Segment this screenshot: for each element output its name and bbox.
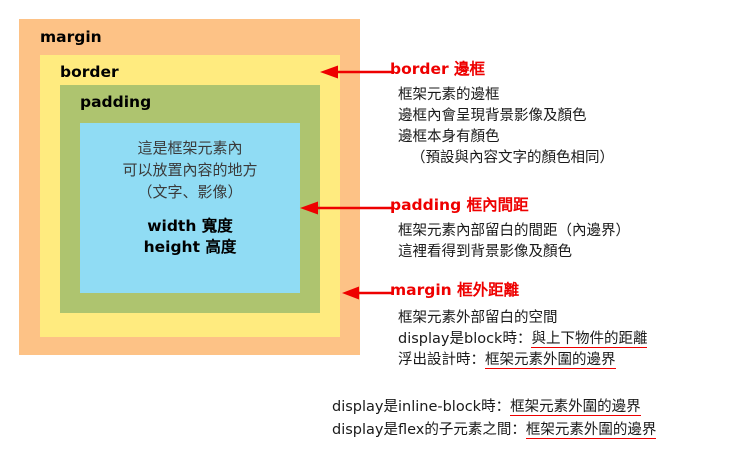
content-line-3: （文字、影像） <box>137 181 242 203</box>
border-layer-label: border <box>60 65 119 81</box>
border-annotation-line-3: 邊框本身有顏色 <box>398 127 614 148</box>
border-annotation-line-4: （預設與內容文字的顏色相同） <box>398 148 614 169</box>
margin-line2-prefix: display是block時： <box>398 331 531 347</box>
bottom-annotation-lines: display是inline-block時：框架元素外圍的邊界 display是… <box>332 396 750 442</box>
bottom-line2-emphasis: 框架元素外圍的邊界 <box>526 422 657 439</box>
padding-annotation-block: padding 框內間距 框架元素內部留白的間距（內邊界） 這裡看得到背景影像及… <box>390 196 630 263</box>
bottom-annotation-line-1: display是inline-block時：框架元素外圍的邊界 <box>332 396 750 419</box>
content-line-2: 可以放置內容的地方 <box>122 159 257 181</box>
margin-annotation-block: margin 框外距離 框架元素外部留白的空間 display是block時：與… <box>390 281 647 371</box>
margin-annotation-line-3: 浮出設計時：框架元素外圍的邊界 <box>398 350 647 371</box>
bottom-line2-prefix: display是flex的子元素之間： <box>332 422 526 438</box>
padding-callout-arrow-icon <box>300 201 392 215</box>
padding-annotation-lines: 框架元素內部留白的間距（內邊界） 這裡看得到背景影像及顏色 <box>398 221 630 263</box>
margin-line3-prefix: 浮出設計時： <box>398 352 485 368</box>
annotations-column: border 邊框 框架元素的邊框 邊框內會呈現背景影像及顏色 邊框本身有顏色 … <box>390 0 750 461</box>
margin-line3-emphasis: 框架元素外圍的邊界 <box>485 352 616 369</box>
content-dimensions: width 寬度 height 高度 <box>144 216 237 258</box>
box-model-diagram: 這是框架元素內 可以放置內容的地方 （文字、影像） width 寬度 heigh… <box>19 19 360 355</box>
margin-annotation-lines: 框架元素外部留白的空間 display是block時：與上下物件的距離 浮出設計… <box>398 308 647 371</box>
content-width-label: width 寬度 <box>144 216 237 237</box>
border-annotation-lines: 框架元素的邊框 邊框內會呈現背景影像及顏色 邊框本身有顏色 （預設與內容文字的顏… <box>398 85 614 169</box>
content-box-text: 這是框架元素內 可以放置內容的地方 （文字、影像） width 寬度 heigh… <box>80 123 300 293</box>
padding-annotation-line-2: 這裡看得到背景影像及顏色 <box>398 242 630 263</box>
padding-layer-label: padding <box>80 95 151 111</box>
border-annotation-title: border 邊框 <box>390 60 614 78</box>
border-callout-arrow-icon <box>320 65 392 79</box>
margin-annotation-line-2: display是block時：與上下物件的距離 <box>398 329 647 350</box>
content-box-layer: 這是框架元素內 可以放置內容的地方 （文字、影像） width 寬度 heigh… <box>80 123 300 293</box>
margin-layer-label: margin <box>40 30 102 46</box>
margin-annotation-line-1: 框架元素外部留白的空間 <box>398 308 647 329</box>
margin-callout-arrow-icon <box>342 286 392 300</box>
padding-annotation-title: padding 框內間距 <box>390 196 630 214</box>
bottom-annotation-line-2: display是flex的子元素之間：框架元素外圍的邊界 <box>332 419 750 442</box>
border-annotation-block: border 邊框 框架元素的邊框 邊框內會呈現背景影像及顏色 邊框本身有顏色 … <box>390 60 614 169</box>
margin-line2-emphasis: 與上下物件的距離 <box>531 331 647 348</box>
padding-annotation-line-1: 框架元素內部留白的間距（內邊界） <box>398 221 630 242</box>
border-annotation-line-2: 邊框內會呈現背景影像及顏色 <box>398 106 614 127</box>
margin-annotation-title: margin 框外距離 <box>390 281 647 299</box>
bottom-line1-emphasis: 框架元素外圍的邊界 <box>510 399 641 416</box>
content-line-1: 這是框架元素內 <box>137 137 242 159</box>
bottom-line1-prefix: display是inline-block時： <box>332 399 510 415</box>
border-annotation-line-1: 框架元素的邊框 <box>398 85 614 106</box>
content-height-label: height 高度 <box>144 237 237 258</box>
